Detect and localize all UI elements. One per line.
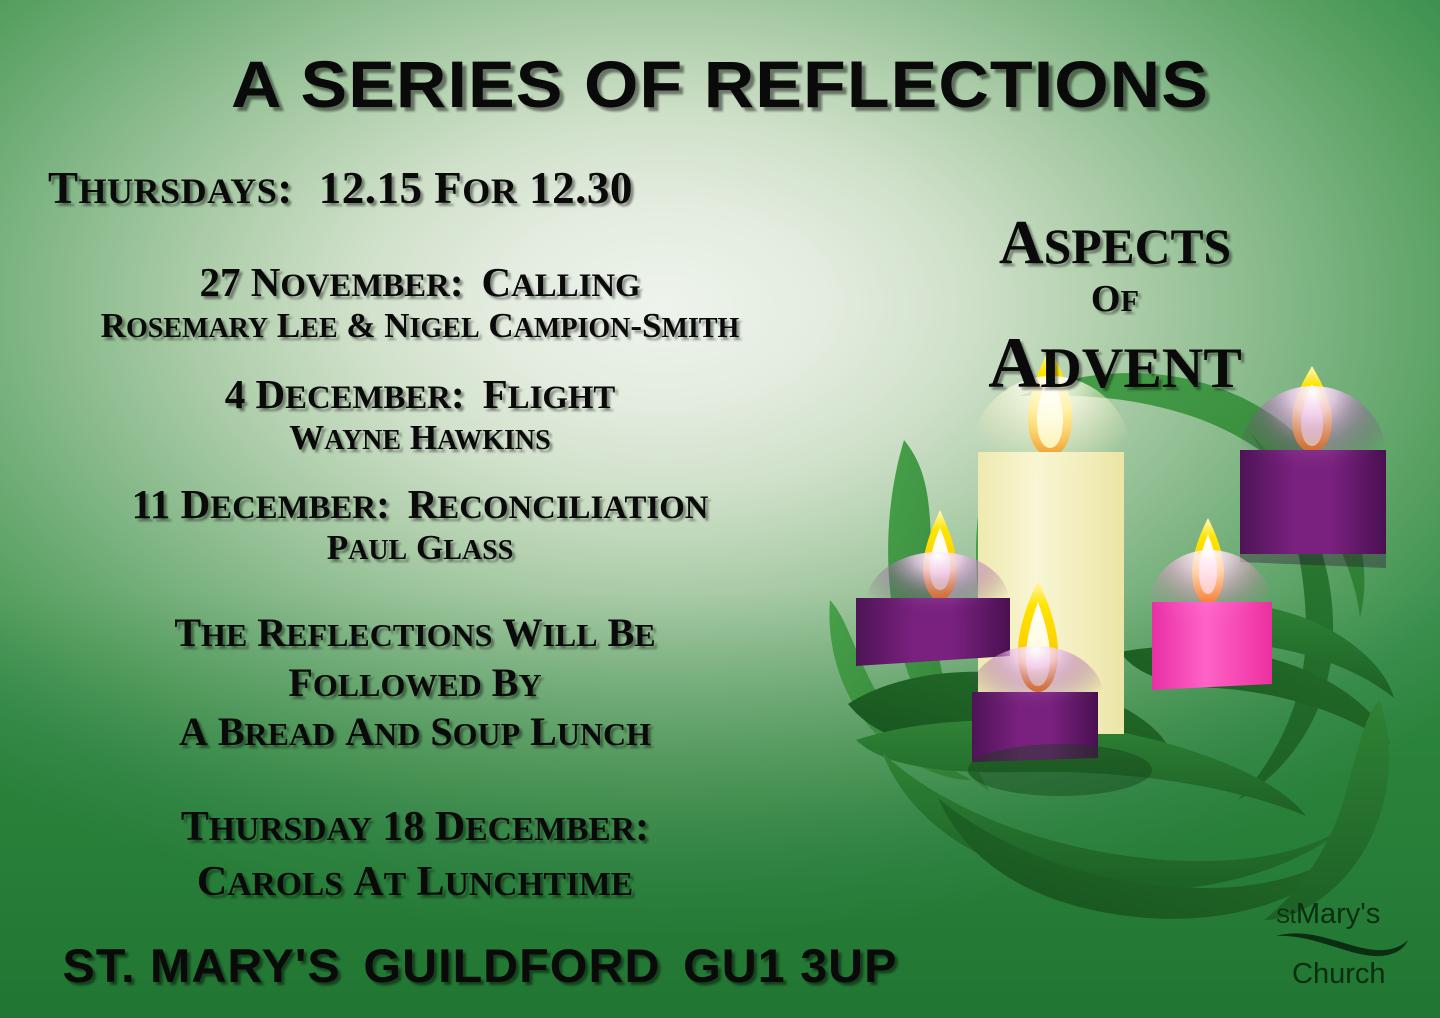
lunch-notice-line-2: FOLLOWED BY <box>0 658 830 708</box>
lunch-notice-line-1: THE REFLECTIONS WILL BE <box>0 608 830 658</box>
event-speakers: ROSEMARY LEE & NIGEL CAMPION-SMITH <box>0 306 840 347</box>
event-title-row: 11 DECEMBER:RECONCILIATION <box>0 484 840 526</box>
lunch-notice: THE REFLECTIONS WILL BE FOLLOWED BY A BR… <box>0 608 830 757</box>
carols-date: THURSDAY 18 DECEMBER: <box>0 800 830 855</box>
event-topic: CALLING <box>482 259 641 305</box>
event-topic: RECONCILIATION <box>408 481 709 527</box>
event-title-row: 27 NOVEMBER:CALLING <box>0 262 840 304</box>
address-postcode: GU1 3UP <box>683 939 897 992</box>
event-date: 4 DECEMBER: <box>225 371 465 417</box>
address-town: GUILDFORD <box>363 939 660 992</box>
event-speakers: PAUL GLASS <box>0 528 840 569</box>
st-marys-church-logo: StMary's Church <box>1272 892 1412 1002</box>
advent-heading-aspects: ASPECTS <box>900 212 1330 274</box>
event-entry: 27 NOVEMBER:CALLING ROSEMARY LEE & NIGEL… <box>0 262 840 346</box>
advent-wreath <box>820 300 1420 920</box>
carols-title: CAROLS AT LUNCHTIME <box>0 855 830 910</box>
event-date: 27 NOVEMBER: <box>199 259 463 305</box>
logo-church: Church <box>1292 958 1386 991</box>
carols-notice: THURSDAY 18 DECEMBER: CAROLS AT LUNCHTIM… <box>0 800 830 909</box>
page-title: A SERIES OF REFLECTIONS <box>0 46 1440 122</box>
event-date: 11 DECEMBER: <box>132 481 390 527</box>
advent-poster: A SERIES OF REFLECTIONS THURSDAYS:12.15 … <box>0 0 1440 1018</box>
lunch-notice-line-3: A BREAD AND SOUP LUNCH <box>0 707 830 757</box>
candle-purple-upper-right <box>1239 366 1387 568</box>
schedule-day-label: THURSDAYS: <box>48 163 293 213</box>
event-entry: 11 DECEMBER:RECONCILIATION PAUL GLASS <box>0 484 840 568</box>
schedule-times: 12.15 FOR 12.30 <box>319 163 633 213</box>
event-title-row: 4 DECEMBER:FLIGHT <box>0 374 840 416</box>
event-entry: 4 DECEMBER:FLIGHT WAYNE HAWKINS <box>0 374 840 458</box>
address-church: ST. MARY'S <box>63 939 341 992</box>
event-speakers: WAYNE HAWKINS <box>0 418 840 459</box>
logo-swoosh-icon <box>1272 924 1412 962</box>
schedule-line: THURSDAYS:12.15 FOR 12.30 <box>48 162 633 214</box>
event-topic: FLIGHT <box>483 371 616 417</box>
address-line: ST. MARY'SGUILDFORDGU1 3UP <box>0 938 974 993</box>
